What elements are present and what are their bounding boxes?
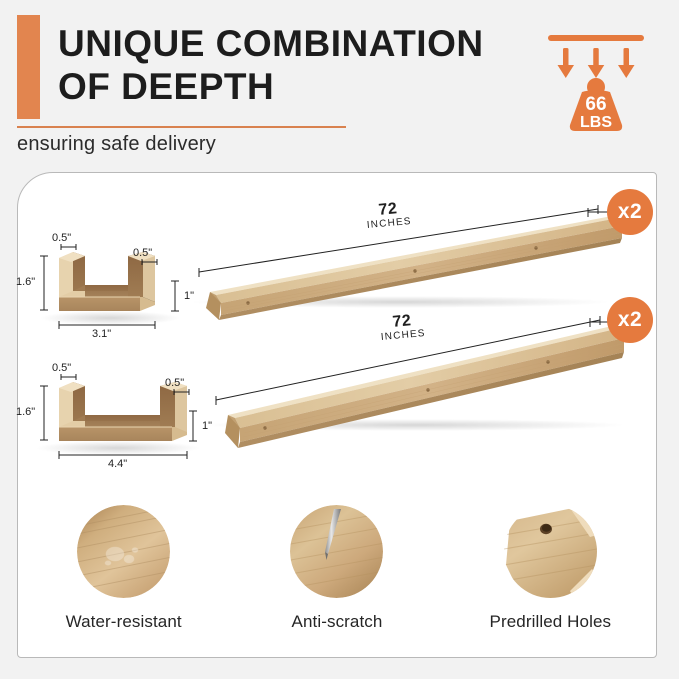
page-title: UNIQUE COMBINATION OF DEEPTH bbox=[58, 22, 528, 108]
title-line-2: OF DEEPTH bbox=[58, 65, 528, 108]
shelf-large-width-label: 4.4" bbox=[108, 458, 127, 470]
weight-value: 66 bbox=[585, 94, 606, 115]
feature-water-resistant: Water-resistant bbox=[17, 505, 230, 650]
title-line-1: UNIQUE COMBINATION bbox=[58, 22, 528, 65]
feature-label-water-resistant: Water-resistant bbox=[66, 612, 182, 632]
shelf-large-right-thickness-label: 0.5" bbox=[165, 377, 184, 389]
shelf-small-left-thickness-label: 0.5" bbox=[52, 232, 71, 244]
quantity-badge-shelf-small: x2 bbox=[607, 189, 653, 235]
feature-label-anti-scratch: Anti-scratch bbox=[292, 612, 383, 632]
shelf-large-left-thickness-label: 0.5" bbox=[52, 362, 71, 374]
feature-label-predrilled-holes: Predrilled Holes bbox=[490, 612, 612, 632]
shelf-large-length-label: 72 INCHES bbox=[379, 311, 426, 343]
feature-row: Water-resistant bbox=[17, 505, 657, 650]
feature-anti-scratch: Anti-scratch bbox=[230, 505, 443, 650]
header-divider bbox=[17, 126, 346, 128]
shelf-small-base-thickness-label: 1" bbox=[184, 290, 194, 302]
weight-capacity-icon: 66 LBS bbox=[540, 24, 652, 136]
water-droplets-on-wood-icon bbox=[77, 505, 170, 598]
shelf-large-height-label: 1.6" bbox=[16, 406, 35, 418]
quantity-badge-shelf-large: x2 bbox=[607, 297, 653, 343]
shelf-large-base-thickness-label: 1" bbox=[202, 420, 212, 432]
infographic-page: UNIQUE COMBINATION OF DEEPTH ensuring sa… bbox=[0, 0, 679, 679]
drilled-hole-in-wood-icon bbox=[504, 505, 597, 598]
shelf-small-length-label: 72 INCHES bbox=[365, 199, 412, 231]
accent-bar bbox=[17, 15, 40, 119]
feature-predrilled-holes: Predrilled Holes bbox=[444, 505, 657, 650]
header-subtitle: ensuring safe delivery bbox=[17, 133, 216, 156]
nail-scratching-wood-icon bbox=[290, 505, 383, 598]
shelf-small-height-label: 1.6" bbox=[16, 276, 35, 288]
shelf-small-right-thickness-label: 0.5" bbox=[133, 247, 152, 259]
weight-unit: LBS bbox=[580, 114, 612, 131]
shelf-small-width-label: 3.1" bbox=[92, 328, 111, 340]
